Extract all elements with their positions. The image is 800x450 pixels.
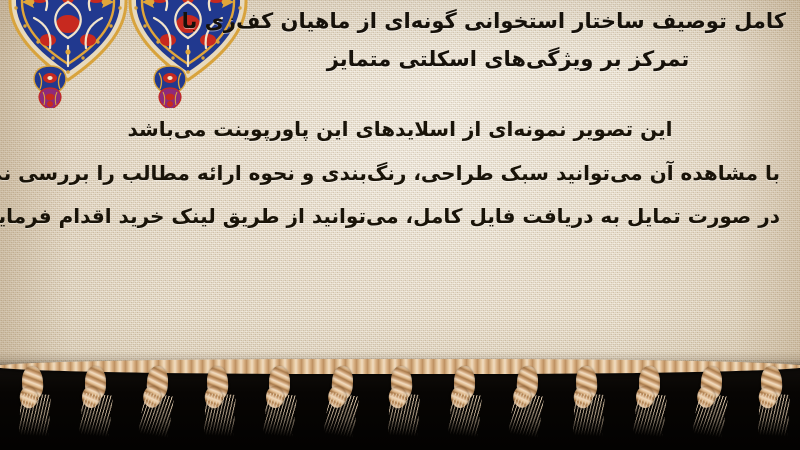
fringe-tassel (692, 365, 730, 437)
tassel-hairs (79, 393, 113, 438)
carpet-fringe-tassels-icon (0, 364, 800, 436)
title-line-2: تمرکز بر ویژگی‌های اسکلتی متمایز (230, 40, 786, 78)
fringe-tassel (200, 365, 238, 437)
body-line-2: با مشاهده آن می‌توانید سبک طراحی، رنگ‌بن… (20, 152, 780, 195)
fringe-tassel (263, 366, 297, 436)
tassel-hairs (388, 393, 420, 437)
slide-title: کامل توصیف ساختار استخوانی گونه‌ای از ما… (230, 2, 786, 78)
fringe-tassel (323, 365, 361, 437)
body-line-1: این تصویر نمونه‌ای از اسلایدهای این پاور… (20, 108, 780, 151)
fringe-tassel (79, 366, 113, 436)
fringe-tassel (448, 366, 482, 436)
body-line-3: در صورت تمایل به دریافت فایل کامل، می‌تو… (20, 195, 780, 238)
tassel-hairs (508, 392, 544, 438)
tassel-hairs (692, 392, 728, 438)
tassel-hairs (573, 393, 605, 437)
fringe-tassel (569, 365, 607, 437)
tassel-hairs (263, 393, 297, 438)
presentation-slide: کامل توصیف ساختار استخوانی گونه‌ای از ما… (0, 0, 800, 450)
slide-body: این تصویر نمونه‌ای از اسلایدهای این پاور… (20, 108, 780, 238)
fringe-tassel (15, 365, 53, 437)
persian-carpet-pendant-medallion-icon-left (8, 0, 128, 108)
tassel-hairs (138, 392, 174, 438)
fringe-tassel (138, 365, 176, 437)
fringe-tassel (385, 365, 423, 437)
tassel-hairs (757, 393, 789, 437)
fringe-tassel (508, 365, 546, 437)
fringe-tassel (754, 365, 792, 437)
tassel-hairs (632, 393, 666, 438)
tassel-hairs (203, 393, 235, 437)
tassel-hairs (323, 392, 359, 438)
title-line-1: کامل توصیف ساختار استخوانی گونه‌ای از ما… (230, 2, 786, 40)
fringe-tassel (633, 366, 667, 436)
tassel-hairs (448, 393, 482, 438)
tassel-hairs (19, 393, 51, 437)
